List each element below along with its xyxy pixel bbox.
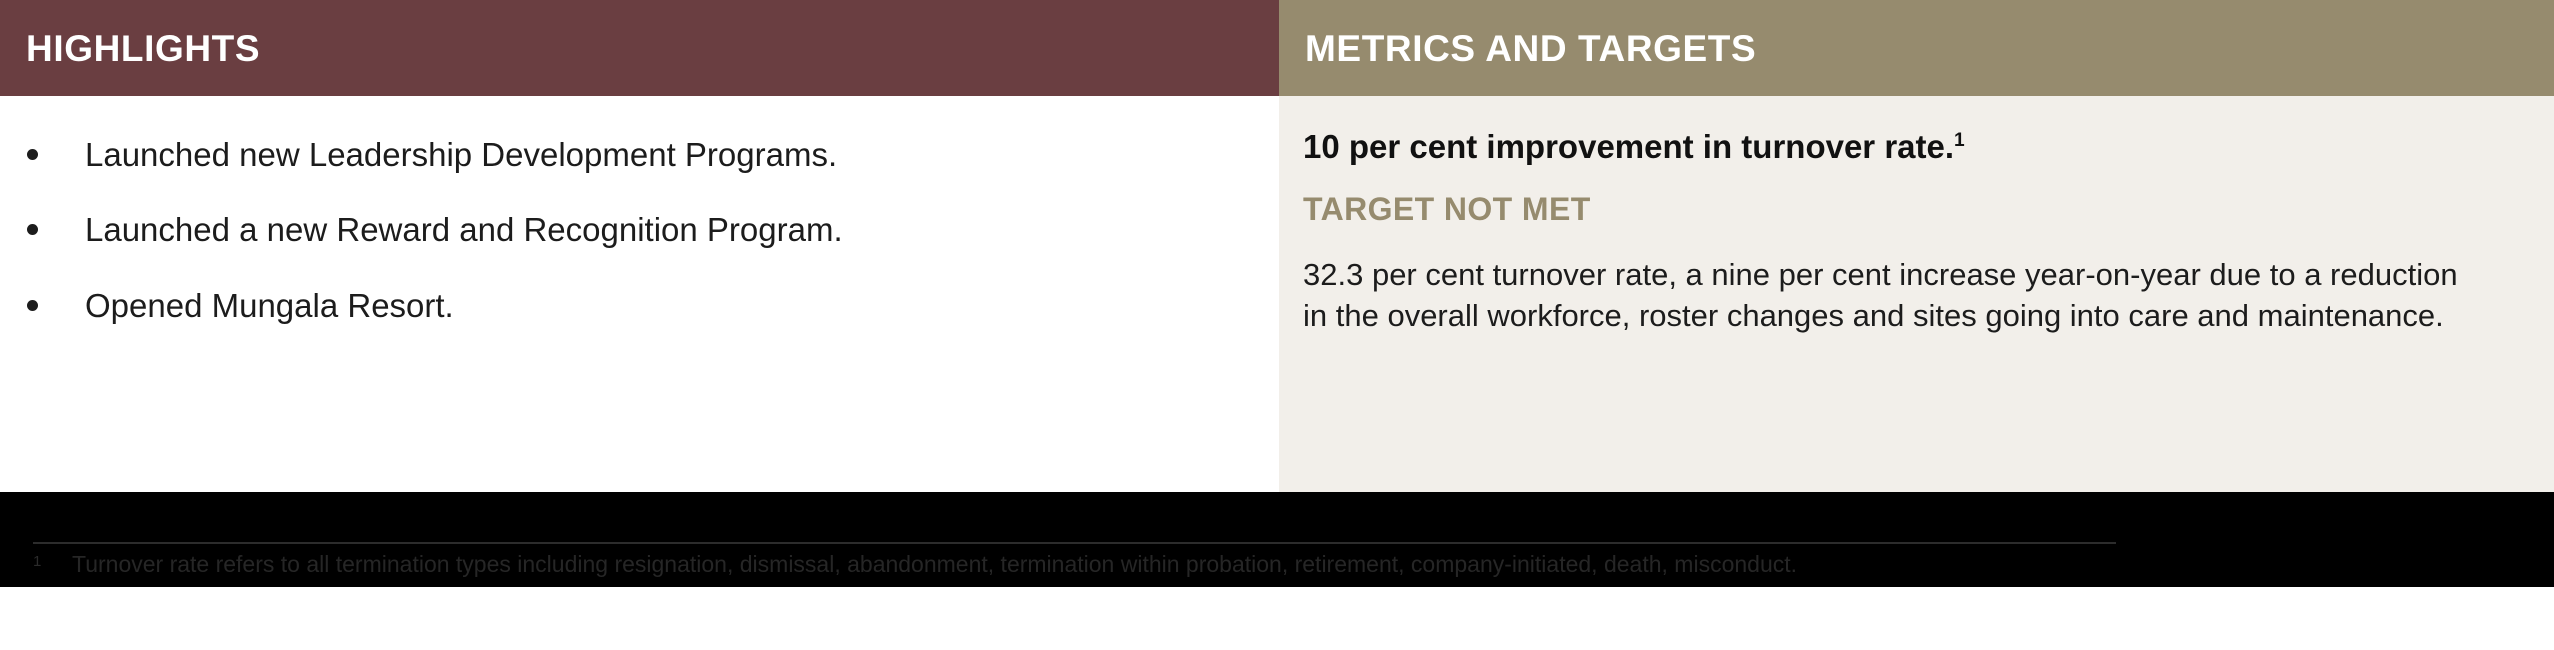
highlights-title: HIGHLIGHTS — [26, 30, 260, 67]
metrics-and-targets-panel: METRICS AND TARGETS 10 per cent improvem… — [1279, 0, 2554, 492]
list-item: Launched a new Reward and Recognition Pr… — [0, 209, 1239, 250]
list-item-label: Opened Mungala Resort. — [85, 287, 454, 324]
highlights-body: Launched new Leadership Development Prog… — [0, 96, 1279, 492]
metrics-title: METRICS AND TARGETS — [1305, 30, 1756, 67]
highlights-header-bar: HIGHLIGHTS — [0, 0, 1279, 96]
list-item-label: Launched new Leadership Development Prog… — [85, 136, 837, 173]
highlights-bullet-list: Launched new Leadership Development Prog… — [0, 96, 1279, 326]
list-item: Opened Mungala Resort. — [0, 285, 1239, 326]
two-column-panels: HIGHLIGHTS Launched new Leadership Devel… — [0, 0, 2554, 492]
report-panel-page: HIGHLIGHTS Launched new Leadership Devel… — [0, 0, 2554, 650]
footnote: 1 Turnover rate refers to all terminatio… — [33, 552, 1797, 577]
list-item: Launched new Leadership Development Prog… — [0, 134, 1239, 175]
metric-heading: 10 per cent improvement in turnover rate… — [1303, 126, 2520, 167]
highlights-panel: HIGHLIGHTS Launched new Leadership Devel… — [0, 0, 1279, 492]
metric-description: 32.3 per cent turnover rate, a nine per … — [1303, 255, 2478, 337]
metrics-body: 10 per cent improvement in turnover rate… — [1279, 96, 2554, 492]
footnote-band: 1 Turnover rate refers to all terminatio… — [0, 492, 2554, 587]
status-badge: TARGET NOT MET — [1303, 193, 2520, 225]
metric-heading-label: 10 per cent improvement in turnover rate… — [1303, 128, 1954, 165]
footnote-marker: 1 — [33, 552, 72, 569]
bullet-dot-icon — [27, 224, 38, 235]
footnote-text: Turnover rate refers to all termination … — [72, 552, 1797, 577]
list-item-label: Launched a new Reward and Recognition Pr… — [85, 211, 843, 248]
bullet-dot-icon — [27, 300, 38, 311]
footnote-divider — [33, 542, 2116, 544]
metric-heading-footnote-marker: 1 — [1954, 130, 1965, 151]
bullet-dot-icon — [27, 149, 38, 160]
metrics-header-bar: METRICS AND TARGETS — [1279, 0, 2554, 96]
